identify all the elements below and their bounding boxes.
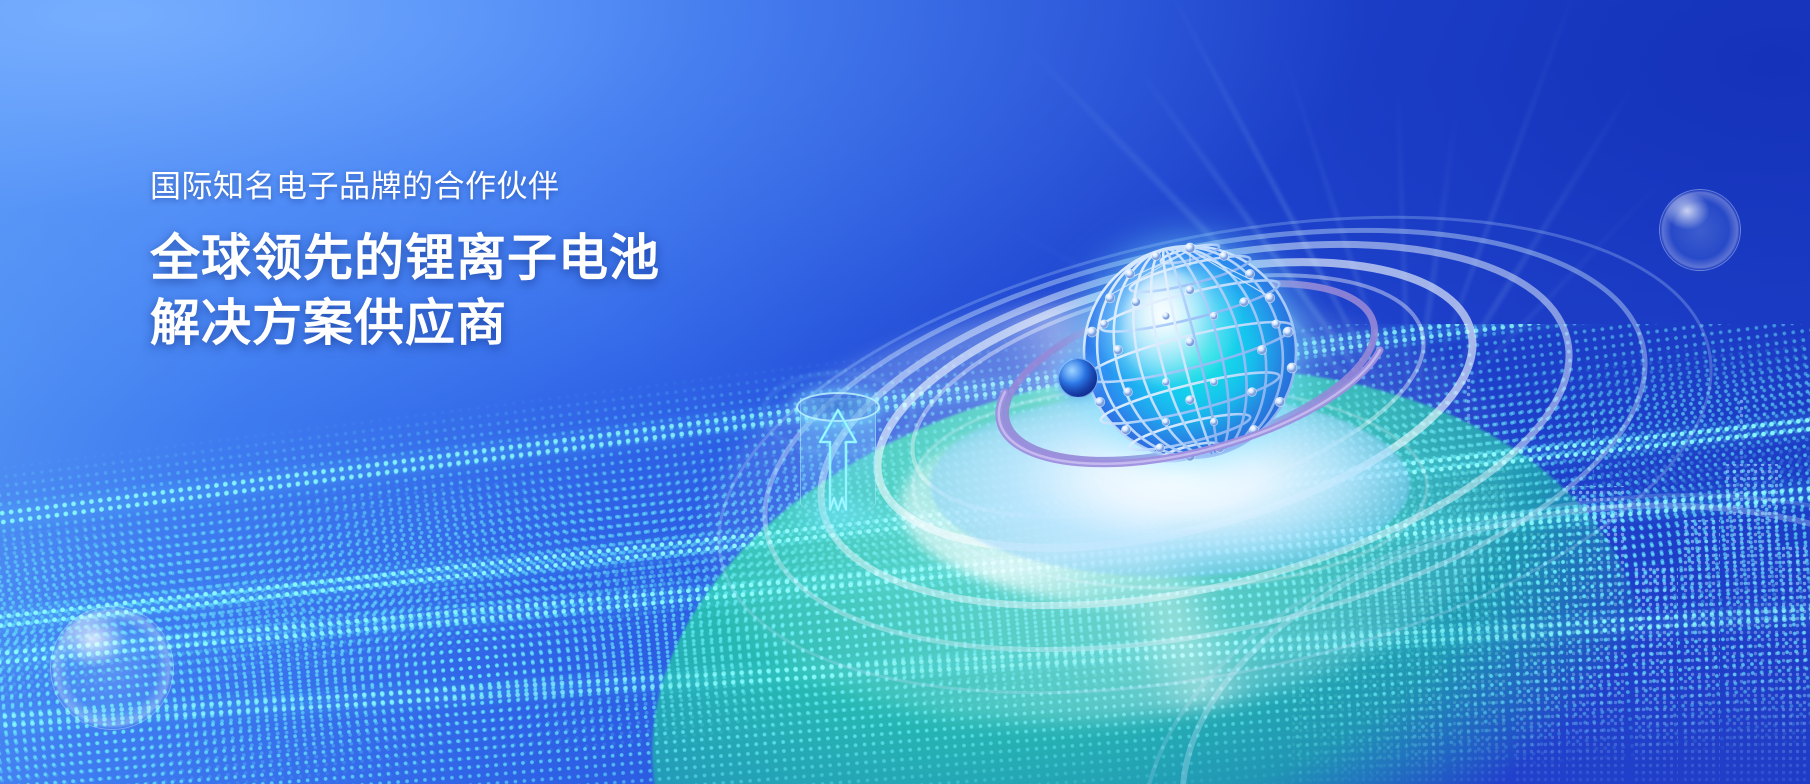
bubble-bottom-left xyxy=(50,606,174,730)
bubble-top-right xyxy=(1659,189,1741,271)
hero-headline: 全球领先的锂离子电池 解决方案供应商 xyxy=(150,226,910,356)
satellite-node xyxy=(1058,358,1098,398)
headline-line-2: 解决方案供应商 xyxy=(150,291,910,356)
globe-wireframe xyxy=(1070,232,1310,472)
hero-copy: 国际知名电子品牌的合作伙伴 全球领先的锂离子电池 解决方案供应商 xyxy=(150,170,910,356)
headline-line-1: 全球领先的锂离子电池 xyxy=(150,226,910,291)
hero-eyebrow: 国际知名电子品牌的合作伙伴 xyxy=(150,170,910,204)
up-arrow-icon xyxy=(816,406,860,514)
hero-banner: 国际知名电子品牌的合作伙伴 全球领先的锂离子电池 解决方案供应商 xyxy=(0,0,1810,784)
wireframe-globe xyxy=(1070,232,1310,472)
